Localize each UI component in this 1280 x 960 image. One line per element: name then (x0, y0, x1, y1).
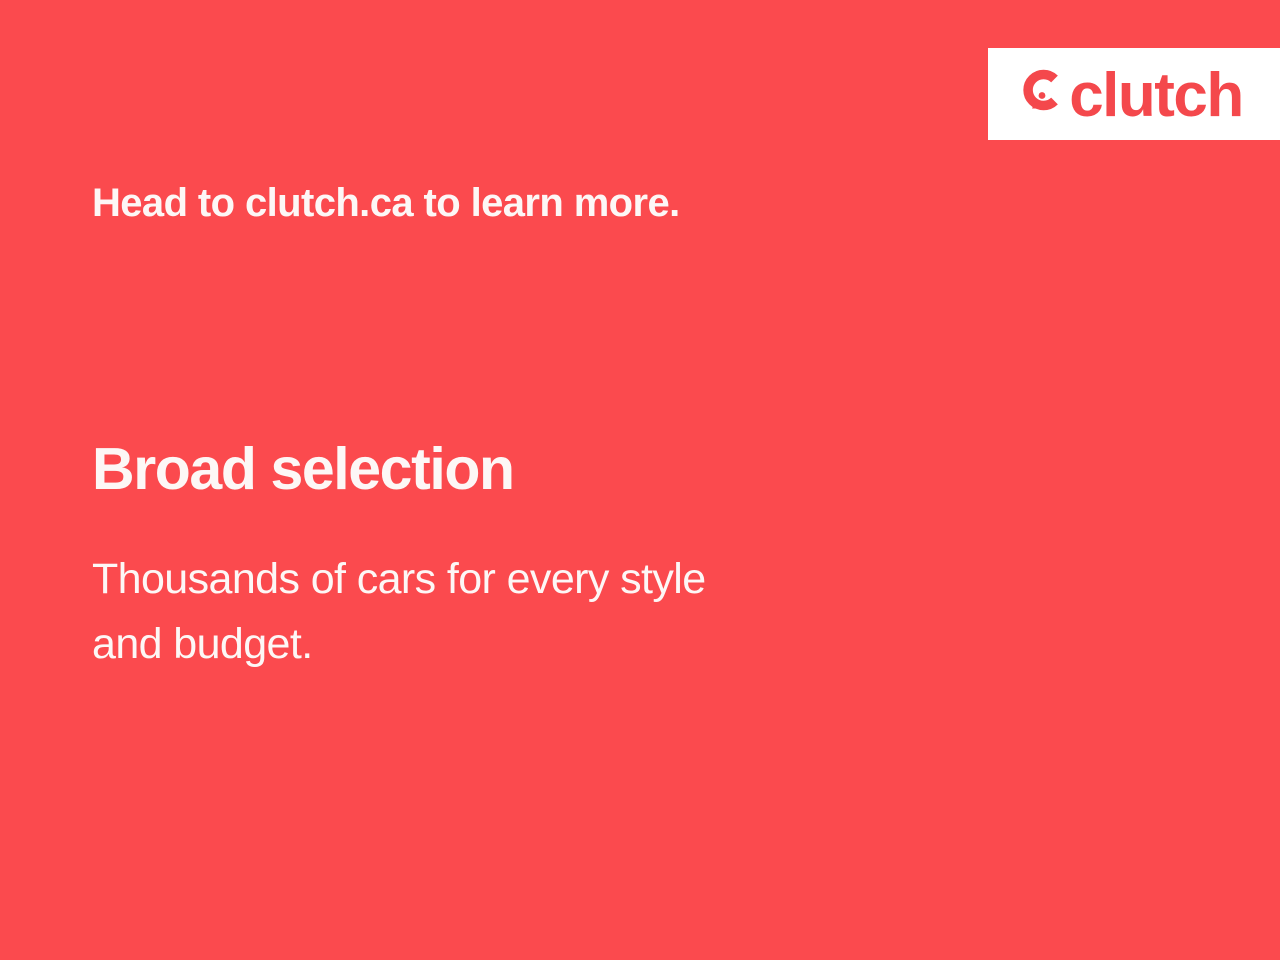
brand-logo-badge[interactable]: clutch (988, 48, 1280, 140)
subhead-text: Thousands of cars for every style and bu… (92, 547, 706, 678)
subhead-line: and budget. (92, 612, 706, 677)
page-title: Broad selection (92, 439, 514, 501)
slide-root: { "theme": { "background_color": "#fb4a4… (0, 0, 1280, 960)
clutch-c-mark-icon (1019, 68, 1065, 120)
logo-wordmark: clutch (1069, 72, 1243, 120)
logo-lockup: clutch (1019, 68, 1243, 120)
eyebrow-text: Head to clutch.ca to learn more. (92, 180, 680, 226)
subhead-line: Thousands of cars for every style (92, 547, 706, 612)
